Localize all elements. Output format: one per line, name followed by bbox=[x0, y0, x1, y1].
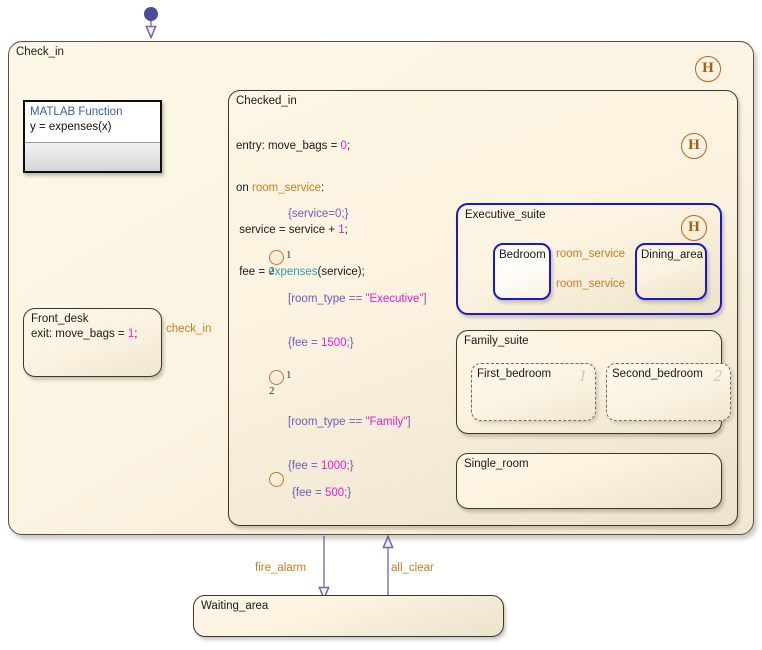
state-label-first-bedroom: First_bedroom bbox=[477, 367, 551, 381]
state-label-front-desk: Front_desk bbox=[31, 312, 89, 326]
family-cond-pre: [room_type == bbox=[288, 416, 365, 428]
state-front-desk[interactable]: Front_desk exit: move_bags = 1; bbox=[23, 308, 162, 377]
checked-in-on-keyword: on bbox=[236, 182, 252, 194]
family-action-line: {fee = 1000;} bbox=[288, 459, 411, 474]
junction-family-priority-2: 2 bbox=[269, 385, 275, 397]
matlab-function-block[interactable]: MATLAB Function y = expenses(x) bbox=[23, 100, 162, 173]
executive-cond-str: "Executive" bbox=[365, 293, 423, 305]
family-cond-end: ] bbox=[407, 416, 410, 428]
history-junction-checked-in[interactable]: H bbox=[681, 133, 707, 159]
state-label-family-suite: Family_suite bbox=[464, 334, 529, 348]
checked-in-service-suffix: ; bbox=[345, 224, 348, 236]
checked-in-service-line: service = service + 1; bbox=[236, 223, 365, 237]
executive-action-pre: {fee = bbox=[288, 337, 321, 349]
checked-in-entry-line: entry: move_bags = 0; bbox=[236, 139, 365, 153]
checked-in-service-pre: service = service + bbox=[236, 224, 338, 236]
executive-action-end: ;} bbox=[347, 337, 354, 349]
default-transition-action-label: {service=0;} bbox=[288, 207, 348, 222]
junction-executive-priority-1: 1 bbox=[286, 249, 292, 261]
matlab-function-title: MATLAB Function bbox=[30, 105, 155, 120]
state-single-room[interactable]: Single_room bbox=[456, 453, 722, 509]
checked-in-on-line: on room_service: bbox=[236, 181, 365, 195]
state-first-bedroom[interactable]: First_bedroom 1 bbox=[471, 363, 596, 421]
state-label-executive-suite: Executive_suite bbox=[465, 208, 546, 222]
family-action-val: 1000 bbox=[321, 460, 347, 472]
family-cond-str: "Family" bbox=[365, 416, 407, 428]
junction-family-priority-1: 1 bbox=[286, 369, 292, 381]
state-dining-area[interactable]: Dining_area bbox=[635, 243, 707, 300]
executive-action-line: {fee = 1500;} bbox=[288, 336, 427, 351]
checked-in-fee-pre: fee = bbox=[236, 266, 268, 278]
executive-condition-line: [room_type == "Executive"] bbox=[288, 292, 427, 307]
junction-single-room[interactable] bbox=[269, 472, 284, 487]
family-action-pre: {fee = bbox=[288, 460, 321, 472]
state-executive-suite[interactable]: Executive_suite H Bedroom Dining_area ro… bbox=[456, 203, 722, 315]
history-junction-check-in[interactable]: H bbox=[695, 56, 721, 82]
single-action-val: 500 bbox=[325, 487, 344, 499]
executive-cond-end: ] bbox=[423, 293, 426, 305]
transition-label-fire-alarm: fire_alarm bbox=[255, 561, 306, 575]
first-bedroom-order: 1 bbox=[579, 366, 588, 386]
front-desk-exit-action: exit: move_bags = 1; bbox=[31, 327, 137, 341]
second-bedroom-order: 2 bbox=[714, 366, 723, 386]
history-junction-executive-suite[interactable]: H bbox=[681, 215, 707, 241]
state-label-second-bedroom: Second_bedroom bbox=[612, 367, 703, 381]
transition-label-check-in: check_in bbox=[166, 322, 211, 336]
matlab-function-body bbox=[25, 142, 160, 171]
state-family-suite[interactable]: Family_suite First_bedroom 1 Second_bedr… bbox=[456, 330, 722, 434]
single-room-action-label: {fee = 500;} bbox=[292, 486, 351, 501]
executive-cond-pre: [room_type == bbox=[288, 293, 365, 305]
transition-label-room-service-back: room_service bbox=[556, 277, 625, 291]
state-label-bedroom: Bedroom bbox=[499, 248, 546, 262]
matlab-function-signature: y = expenses(x) bbox=[30, 120, 155, 135]
executive-action-val: 1500 bbox=[321, 337, 347, 349]
front-desk-exit-prefix: exit: move_bags = bbox=[31, 328, 128, 340]
junction-family[interactable] bbox=[269, 370, 284, 385]
state-second-bedroom[interactable]: Second_bedroom 2 bbox=[606, 363, 731, 421]
checked-in-entry-suffix: ; bbox=[347, 140, 350, 152]
family-action-end: ;} bbox=[347, 460, 354, 472]
checked-in-on-colon: : bbox=[321, 182, 324, 194]
state-label-dining-area: Dining_area bbox=[641, 248, 703, 262]
stateflow-chart-canvas: Check_in H MATLAB Function y = expenses(… bbox=[0, 0, 762, 650]
front-desk-exit-suffix: ; bbox=[134, 328, 137, 340]
state-waiting-area[interactable]: Waiting_area bbox=[193, 595, 504, 637]
executive-condition-label: [room_type == "Executive"] {fee = 1500;} bbox=[288, 263, 427, 379]
checked-in-entry-prefix: entry: move_bags = bbox=[236, 140, 341, 152]
transition-label-room-service-out: room_service bbox=[556, 247, 625, 261]
junction-executive-priority-2: 2 bbox=[269, 265, 275, 277]
state-label-single-room: Single_room bbox=[464, 457, 529, 471]
state-bedroom[interactable]: Bedroom bbox=[493, 243, 551, 300]
single-action-end: ;} bbox=[344, 487, 351, 499]
transition-label-all-clear: all_clear bbox=[391, 561, 434, 575]
default-transition-dot-chart bbox=[144, 7, 158, 21]
junction-executive[interactable] bbox=[269, 250, 284, 265]
state-label-waiting-area: Waiting_area bbox=[201, 599, 268, 613]
single-action-pre: {fee = bbox=[292, 487, 325, 499]
family-condition-line: [room_type == "Family"] bbox=[288, 415, 411, 430]
checked-in-on-event: room_service bbox=[252, 182, 321, 194]
family-condition-label: [room_type == "Family"] {fee = 1000;} bbox=[288, 386, 411, 502]
state-label-check-in: Check_in bbox=[16, 45, 64, 59]
state-label-checked-in: Checked_in bbox=[236, 94, 297, 108]
